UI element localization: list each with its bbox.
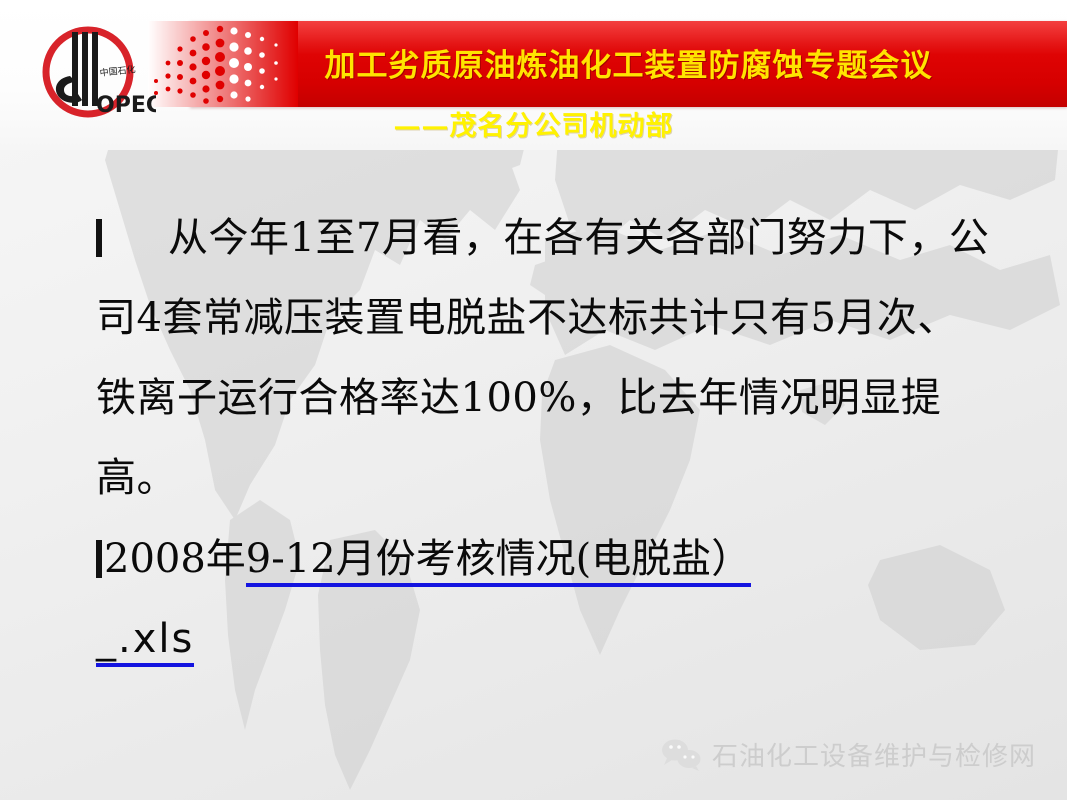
sinopec-logo: OPEC 中国石化 xyxy=(26,20,156,135)
slide-body: 从今年1至7月看，在各有关各部门努力下，公司4套常减压装置电脱盐不达标共计只有5… xyxy=(96,198,996,678)
paragraph-text: 从今年1至7月看，在各有关各部门努力下，公司4套常减压装置电脱盐不达标共计只有5… xyxy=(96,215,989,501)
body-paragraph: 从今年1至7月看，在各有关各部门努力下，公司4套常减压装置电脱盐不达标共计只有5… xyxy=(96,198,996,518)
link-prefix: 2008年 xyxy=(104,536,246,582)
bullet-bar-icon xyxy=(96,219,102,257)
footer-watermark-text: 石油化工设备维护与检修网 xyxy=(712,736,1036,773)
footer-watermark: 石油化工设备维护与检修网 xyxy=(660,736,1036,773)
slide: 加工劣质原油炼油化工装置防腐蚀专题会议 ——茂名分公司机动部 OPEC 中国石化 xyxy=(0,0,1067,800)
attachment-hyperlink[interactable]: 9-12月份考核情况(电脱盐） xyxy=(246,536,751,587)
page-subtitle: ——茂名分公司机动部 xyxy=(0,104,1067,143)
wechat-icon xyxy=(660,738,702,772)
svg-text:OPEC: OPEC xyxy=(96,93,156,118)
attachment-link-line: 2008年9-12月份考核情况(电脱盐） xyxy=(96,520,996,598)
bullet-bar-icon-2 xyxy=(96,540,102,578)
attachment-link-line-2: _.xls xyxy=(96,600,996,678)
page-title: 加工劣质原油炼油化工装置防腐蚀专题会议 xyxy=(190,40,1067,85)
header-banner: 加工劣质原油炼油化工装置防腐蚀专题会议 ——茂名分公司机动部 OPEC 中国石化 xyxy=(0,0,1067,150)
attachment-hyperlink-extension[interactable]: _.xls xyxy=(96,616,194,667)
